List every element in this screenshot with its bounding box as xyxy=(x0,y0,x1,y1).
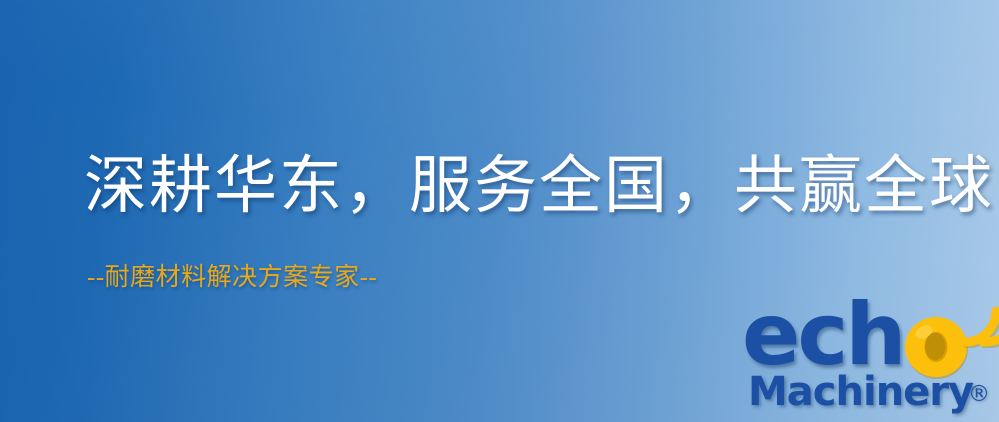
logo-wordmark-text: ech xyxy=(742,292,904,378)
banner-subtitle: --耐磨材料解决方案专家-- xyxy=(87,262,377,294)
echo-machinery-logo: ech Machinery ® xyxy=(742,292,999,422)
promo-banner: 深耕华东，服务全国，共赢全球 --耐磨材料解决方案专家-- ech Machin… xyxy=(0,0,999,422)
registered-trademark-icon: ® xyxy=(968,384,990,406)
logo-tagline-text: Machinery xyxy=(748,370,973,414)
banner-headline: 深耕华东，服务全国，共赢全球 xyxy=(84,148,994,224)
logo-signal-waves-icon xyxy=(958,286,999,348)
